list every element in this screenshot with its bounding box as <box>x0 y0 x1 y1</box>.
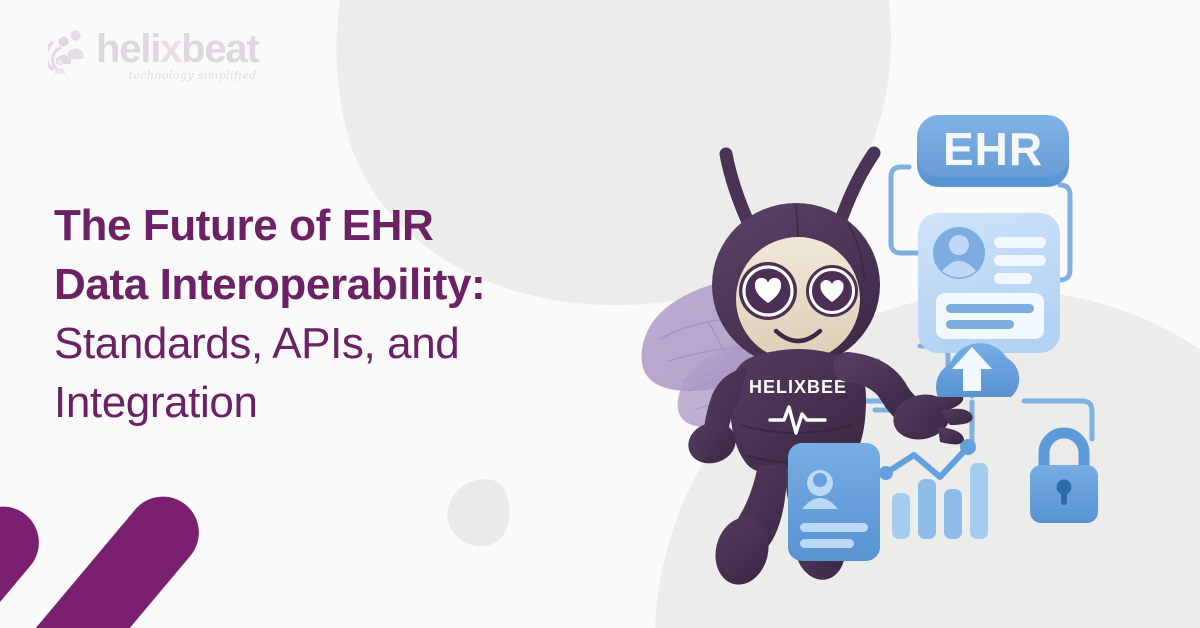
decorative-bar-left <box>0 492 54 628</box>
patient-id-card <box>788 443 880 561</box>
mascot-eye-right <box>806 265 858 317</box>
mascot-head <box>712 203 880 367</box>
headline-line-3: Standards, APIs, and <box>54 314 654 373</box>
logo-word-part-1: heli <box>96 27 160 71</box>
mascot-chest-label: HELIXBEE <box>749 377 847 397</box>
logo-word-part-2: beat <box>181 27 258 71</box>
logo-wordmark-wrap: helixbeat technology simplified <box>96 27 259 71</box>
brand-logo[interactable]: helixbeat technology simplified <box>48 27 259 89</box>
headline-line-1: The Future of EHR <box>54 196 654 255</box>
banner-canvas: helixbeat technology simplified The Futu… <box>0 0 1200 628</box>
logo-wordmark: helixbeat <box>96 27 259 71</box>
ehr-badge-label: EHR <box>943 123 1043 175</box>
hero-illustration: HELIXBEE <box>620 95 1200 595</box>
decorative-bar-right <box>0 482 214 628</box>
patient-record-card <box>918 213 1060 353</box>
security-lock <box>1030 433 1098 523</box>
headline-line-4: Integration <box>54 373 654 432</box>
ehr-badge: EHR <box>917 115 1069 187</box>
headline-line-2: Data Interoperability: <box>54 255 654 314</box>
helixbeat-family-logo-mark-icon <box>48 29 90 75</box>
background-blob-small <box>442 472 517 551</box>
logo-tagline: technology simplified <box>129 69 257 82</box>
mascot-eye-left <box>739 262 797 320</box>
page-title: The Future of EHR Data Interoperability:… <box>54 196 654 432</box>
logo-word-x: x <box>160 27 181 71</box>
analytics-chart <box>879 439 988 539</box>
